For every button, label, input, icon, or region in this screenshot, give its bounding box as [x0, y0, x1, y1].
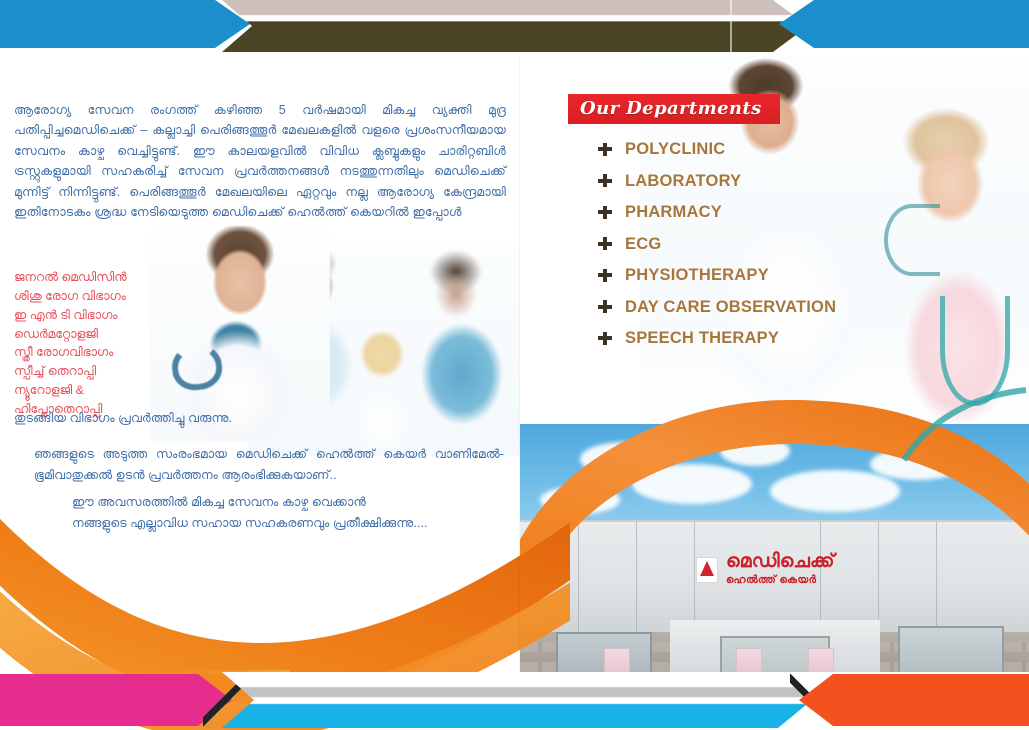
top-olive-band [222, 0, 808, 52]
cross-bullet-icon [598, 269, 614, 283]
paragraph-three-line-2: നങ്ങളുടെ എല്ലാവിധ സഹായ സഹകരണവും പ്രതീക്ഷ… [72, 513, 512, 534]
window-poster [808, 648, 834, 672]
cloud-shape [720, 436, 790, 466]
ml-dept-item: ജനറൽ മെഡിസിൻ [14, 268, 184, 287]
ml-dept-item: ഡെർമറ്റോളജി [14, 325, 184, 344]
signage-main-text: മെഡിചെക്ക് [726, 552, 835, 571]
page-fold-seam [519, 56, 520, 672]
signage-sub-text: ഹെൽത്ത് കെയർ [726, 574, 835, 587]
top-decorative-band [0, 0, 1029, 56]
medicheck-logo-icon [696, 557, 718, 583]
department-label: POLYCLINIC [625, 140, 725, 159]
english-department-list: POLYCLINIC LABORATORY PHARMACY ECG PHYSI… [598, 134, 836, 355]
department-label: SPEECH THERAPY [625, 329, 779, 348]
cloud-shape [770, 470, 900, 512]
right-glass-panel [898, 626, 1004, 672]
departments-closing-line: തുടങ്ങിയ വിഭാഗം പ്രവർത്തിച്ചു വരുന്നു. [14, 408, 314, 428]
department-item[interactable]: LABORATORY [598, 166, 836, 198]
department-label: PHYSIOTHERAPY [625, 266, 769, 285]
top-band-seam [730, 0, 732, 52]
facade-panel-line [578, 522, 579, 634]
top-blue-left-chevron [0, 0, 250, 48]
cross-bullet-icon [598, 143, 614, 157]
cloud-shape [870, 448, 966, 480]
department-item[interactable]: PHYSIOTHERAPY [598, 260, 836, 292]
stethoscope-tube-icon [940, 296, 1010, 406]
cross-bullet-icon [598, 332, 614, 346]
paragraph-two: ഞങ്ങളുടെ അടുത്ത സംരംഭമായ മെഡിചെക്ക് ഹെൽത… [34, 444, 504, 486]
right-page-panel: Our Departments POLYCLINIC LABORATORY PH… [520, 56, 1029, 672]
department-label: DAY CARE OBSERVATION [625, 298, 836, 317]
ml-dept-item: ശിശു രോഗ വിഭാഗം [14, 287, 184, 306]
departments-banner: Our Departments [568, 94, 780, 124]
ml-dept-item: ഇ എൻ ടി വിഭാഗം [14, 306, 184, 325]
ml-dept-item: ന്യൂറോളജി & [14, 381, 184, 400]
department-item[interactable]: PHARMACY [598, 197, 836, 229]
window-poster [736, 648, 762, 672]
bottom-center-band [222, 672, 812, 728]
department-label: ECG [625, 235, 661, 254]
bottom-decorative-band [0, 672, 1029, 730]
department-label: PHARMACY [625, 203, 722, 222]
cross-bullet-icon [598, 174, 614, 188]
building-signage: മെഡിചെക്ക് ഹെൽത്ത് കെയർ [696, 552, 835, 587]
paragraph-three: ഈ അവസരത്തിൽ മികച്ച സേവനം കാഴ്ച വെക്കാൻ ന… [72, 492, 512, 534]
department-label: LABORATORY [625, 172, 741, 191]
brochure-page: ആരോഗ്യ സേവന രംഗത്ത് കഴിഞ്ഞ 5 വർഷമായി മിക… [0, 0, 1029, 730]
cross-bullet-icon [598, 237, 614, 251]
facade-panel-line [878, 522, 879, 634]
department-item[interactable]: ECG [598, 229, 836, 261]
left-page-panel: ആരോഗ്യ സേവന രംഗത്ത് കഴിഞ്ഞ 5 വർഷമായി മിക… [0, 56, 520, 672]
facade-panel-line [694, 522, 695, 634]
cloud-shape [540, 486, 620, 514]
facade-panel-line [936, 522, 937, 634]
cross-bullet-icon [598, 206, 614, 220]
cloud-shape [632, 464, 752, 504]
ml-dept-item: സ്ത്രീ രോഗവിഭാഗം [14, 343, 184, 362]
clinic-building-photo: മെഡിചെക്ക് ഹെൽത്ത് കെയർ [520, 424, 1029, 672]
departments-banner-label: Our Departments [580, 98, 762, 119]
window-poster [604, 648, 630, 672]
bottom-pink-chevron [0, 674, 232, 726]
paragraph-three-line-1: ഈ അവസരത്തിൽ മികച്ച സേവനം കാഴ്ച വെക്കാൻ [72, 492, 512, 513]
department-item[interactable]: DAY CARE OBSERVATION [598, 292, 836, 324]
stethoscope-head-icon [884, 204, 940, 276]
ml-dept-item: സ്പീച്ച് തെറാപ്പി [14, 362, 184, 381]
department-item[interactable]: SPEECH THERAPY [598, 323, 836, 355]
facade-panel-line [636, 522, 637, 634]
bottom-orange-chevron [799, 674, 1029, 726]
top-blue-right-chevron [779, 0, 1029, 48]
department-item[interactable]: POLYCLINIC [598, 134, 836, 166]
malayalam-department-list: ജനറൽ മെഡിസിൻ ശിശു രോഗ വിഭാഗം ഇ എൻ ടി വിഭ… [14, 268, 184, 419]
cross-bullet-icon [598, 300, 614, 314]
intro-paragraph: ആരോഗ്യ സേവന രംഗത്ത് കഴിഞ്ഞ 5 വർഷമായി മിക… [14, 100, 506, 222]
